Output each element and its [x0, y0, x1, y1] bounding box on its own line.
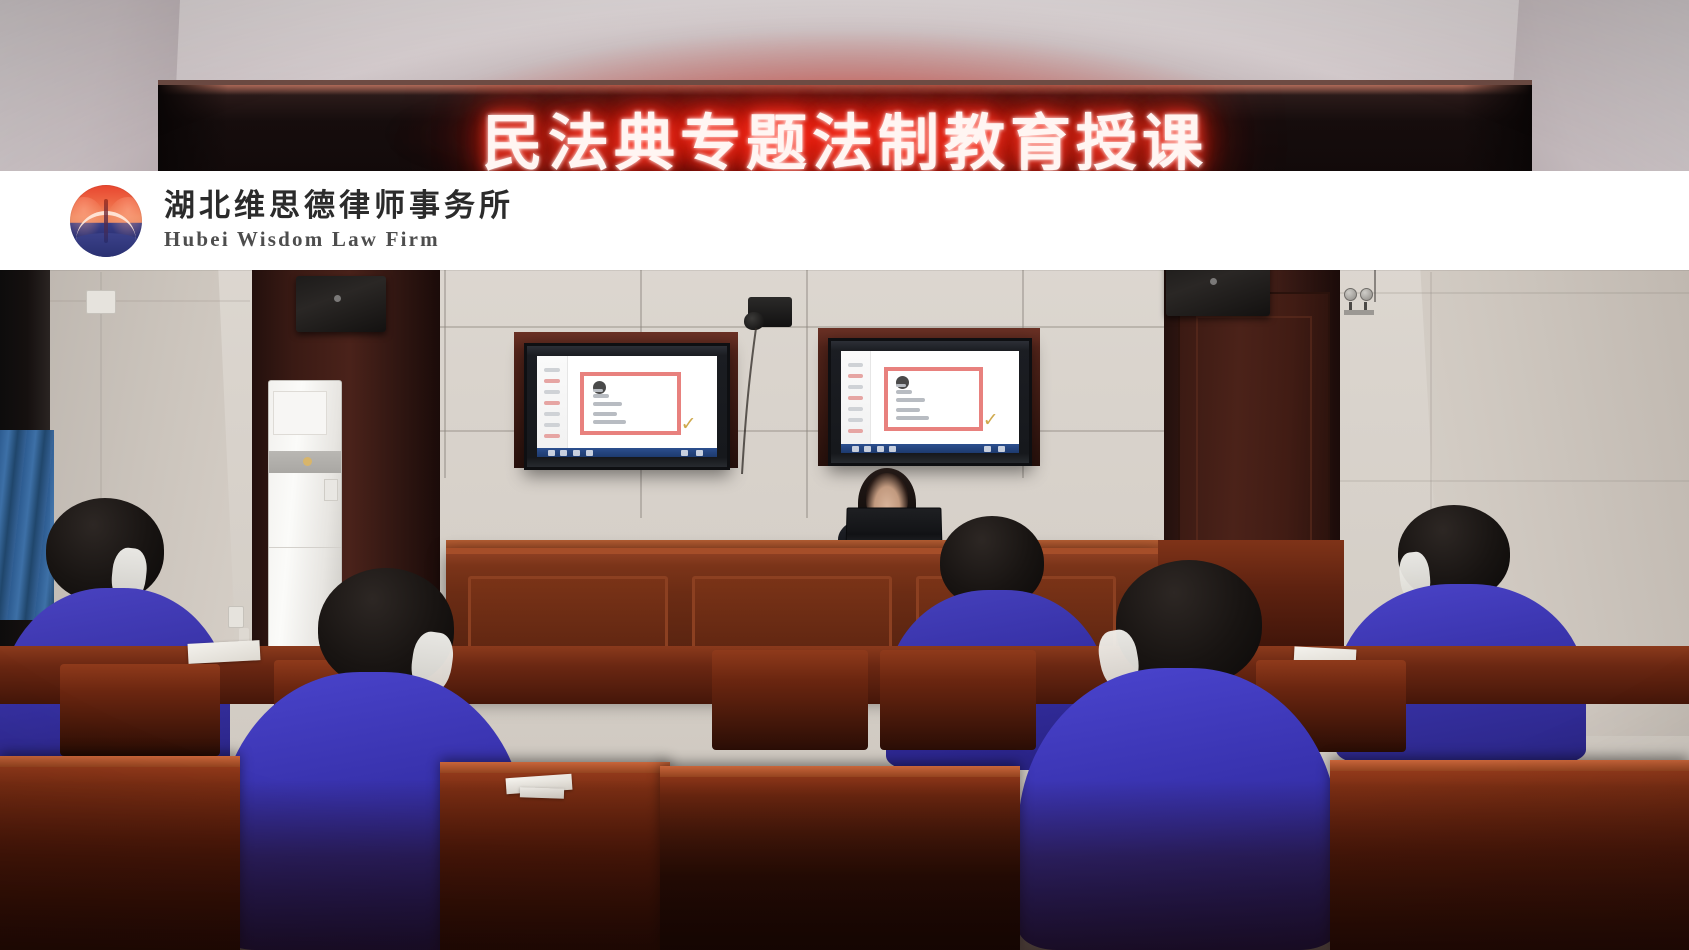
dialog-line — [896, 390, 913, 394]
ac-vent — [273, 391, 327, 435]
taskbar-icon[interactable] — [864, 446, 871, 452]
left-display[interactable]: ✓ — [524, 343, 730, 470]
bench-seatback — [712, 650, 868, 750]
right-screen-dialog — [884, 367, 984, 430]
sidebar-line — [848, 374, 863, 378]
watermark-bar: 湖北维思德律师事务所 Hubei Wisdom Law Firm — [0, 171, 1689, 270]
watermark-text-block: 湖北维思德律师事务所 Hubei Wisdom Law Firm — [164, 189, 514, 252]
dialog-line — [593, 402, 623, 406]
sidebar-line — [544, 368, 560, 372]
taskbar-tray-icon[interactable] — [984, 446, 991, 452]
dialog-avatar-icon — [896, 376, 909, 389]
sidebar-line — [544, 401, 560, 405]
taskbar-icon[interactable] — [560, 450, 567, 456]
right-screen-sidebar — [841, 351, 871, 453]
dialog-line — [896, 398, 925, 402]
dialog-line — [593, 420, 626, 424]
law-firm-name-cn: 湖北维思德律师事务所 — [164, 189, 514, 223]
foreground-bench — [0, 756, 240, 950]
alarm-bell-left — [1344, 288, 1357, 301]
taskbar-icon[interactable] — [889, 446, 896, 452]
alarm-bell-right — [1360, 288, 1373, 301]
sidebar-line — [848, 363, 863, 367]
bench-top-edge — [440, 762, 670, 773]
dialog-line — [896, 408, 920, 412]
bench-top-edge — [0, 756, 240, 767]
foreground-bench — [1330, 760, 1689, 950]
foreground-bench — [660, 766, 1020, 950]
wall-socket — [228, 606, 244, 628]
taskbar-icon[interactable] — [586, 450, 593, 456]
sidebar-line — [848, 407, 863, 411]
fire-alarm-icon — [1344, 288, 1378, 322]
wall-speaker-left — [296, 276, 386, 332]
ac-control-panel[interactable] — [324, 479, 338, 501]
desk-paper — [188, 640, 261, 664]
left-display-screen[interactable]: ✓ — [537, 356, 717, 457]
taskbar-clock — [696, 450, 703, 456]
bench-top-edge — [1330, 760, 1689, 771]
taskbar-icon[interactable] — [877, 446, 884, 452]
dialog-avatar-icon — [593, 381, 606, 394]
wall-tile-line — [1340, 480, 1689, 482]
sidebar-line — [848, 396, 863, 400]
led-banner-housing: 民法典专题法制教育授课 — [158, 80, 1532, 176]
dialog-line — [593, 394, 610, 398]
sidebar-line — [544, 423, 560, 427]
audience-head — [46, 498, 164, 602]
sidebar-line — [544, 434, 560, 438]
left-screen-sidebar — [537, 356, 568, 457]
sidebar-line — [544, 390, 560, 394]
law-firm-name-en: Hubei Wisdom Law Firm — [164, 227, 514, 252]
taskbar-icon[interactable] — [852, 446, 859, 452]
bench-seatback — [60, 664, 220, 756]
sidebar-line — [848, 429, 863, 433]
taskbar-tray-icon[interactable] — [681, 450, 688, 456]
logo-stem — [104, 199, 108, 243]
desk-pen — [520, 787, 564, 799]
wall-socket — [86, 290, 116, 314]
sidebar-line — [544, 412, 560, 416]
audience-shirt — [1018, 668, 1338, 950]
left-screen-taskbar[interactable] — [537, 448, 717, 457]
right-screen-taskbar[interactable] — [841, 444, 1019, 453]
dialog-line — [593, 389, 603, 392]
taskbar-icon[interactable] — [548, 450, 555, 456]
sidebar-line — [848, 418, 863, 422]
led-banner-right-shade — [1462, 85, 1532, 176]
wall-tile-line — [1340, 292, 1689, 294]
left-screen-dialog — [580, 372, 681, 435]
camera-cable — [740, 322, 810, 482]
taskbar-icon[interactable] — [573, 450, 580, 456]
lecture-hall-photo: 民法典专题法制教育授课 — [0, 0, 1689, 950]
bench-seatback — [880, 650, 1036, 750]
law-firm-logo-icon — [70, 185, 142, 257]
ac-indicator — [303, 457, 312, 466]
alarm-bar — [1344, 310, 1374, 315]
led-banner-text: 民法典专题法制教育授课 — [158, 93, 1532, 176]
sidebar-line — [848, 385, 863, 389]
dialog-line — [896, 384, 906, 387]
right-display[interactable]: ✓ — [828, 338, 1032, 466]
wall-tile-line — [50, 300, 250, 302]
ac-seam — [269, 547, 341, 548]
screen-decoration: ✓ — [983, 411, 1005, 437]
taskbar-clock — [998, 446, 1005, 452]
screen-decoration: ✓ — [681, 415, 703, 441]
sidebar-line — [544, 379, 560, 383]
bench-top-edge — [660, 766, 1020, 777]
blue-curtain — [0, 430, 54, 620]
right-display-screen[interactable]: ✓ — [841, 351, 1019, 453]
dialog-line — [896, 416, 929, 420]
dialog-line — [593, 412, 617, 416]
led-banner-left-shade — [158, 85, 228, 176]
